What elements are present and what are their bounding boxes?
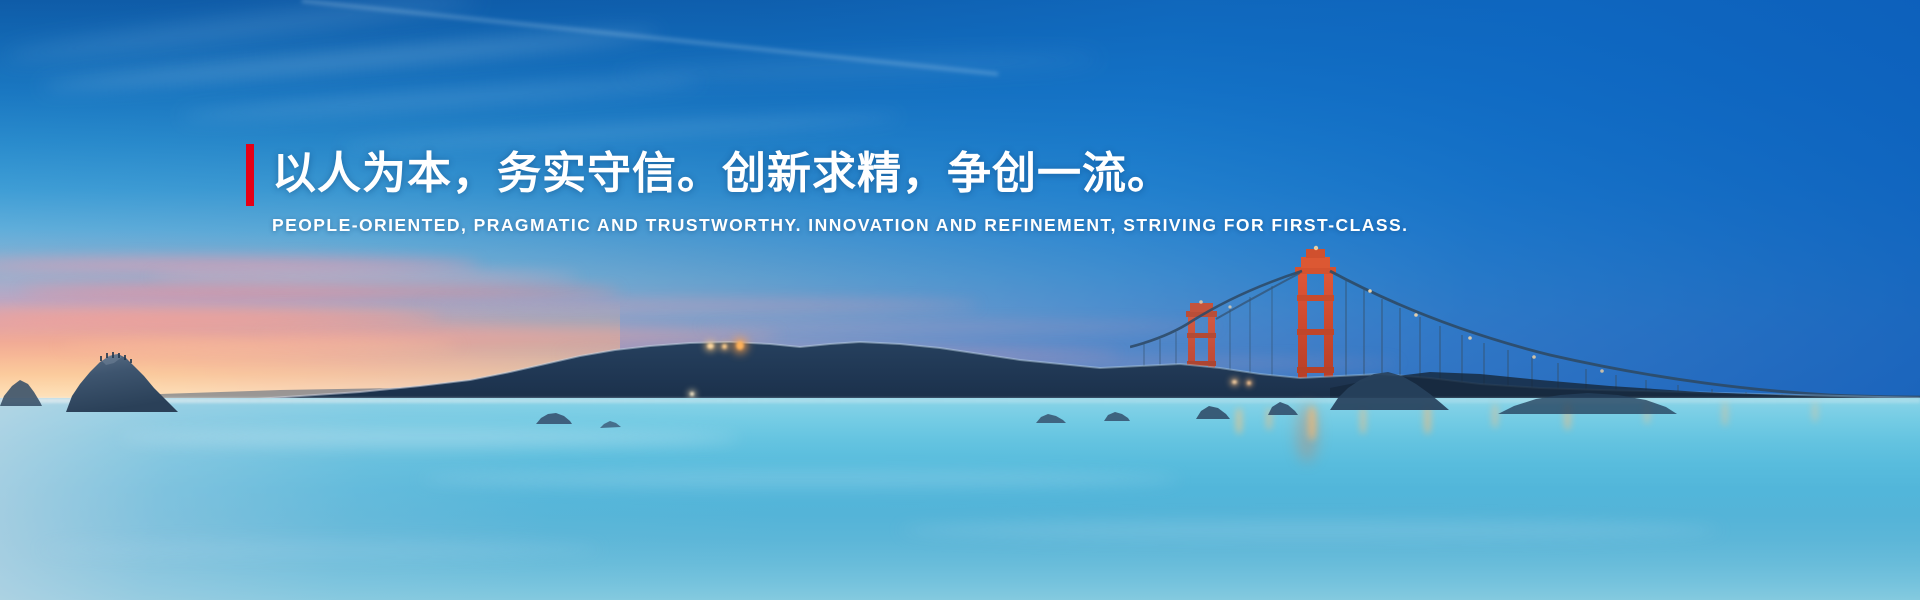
water-sheen: [40, 540, 600, 558]
banner-headline: 以人为本，务实守信。创新求精，争创一流。: [272, 144, 1172, 206]
water-rock: [600, 420, 622, 429]
water-rock: [1036, 412, 1066, 424]
accent-bar: [246, 144, 254, 206]
water-pale-overlay: [0, 398, 780, 600]
water-rock: [536, 411, 572, 425]
light-reflection: [1722, 402, 1728, 426]
water-sheen: [420, 470, 1180, 488]
hero-banner: 以人为本，务实守信。创新求精，争创一流。 PEOPLE-ORIENTED, PR…: [0, 0, 1920, 600]
water-rock: [1104, 410, 1130, 422]
cloud-streak: [150, 272, 580, 281]
ridge-light: [1247, 381, 1251, 385]
ridge-light: [722, 344, 727, 349]
ridge-light: [1232, 380, 1237, 384]
foreground-rock: [62, 352, 180, 414]
cloud-streak: [20, 286, 620, 297]
water-rock: [1268, 400, 1298, 416]
ridge-light: [707, 343, 714, 349]
light-reflection: [1812, 402, 1818, 422]
light-reflection: [1308, 406, 1316, 440]
shore-rock: [1330, 366, 1450, 412]
headline-row: 以人为本，务实守信。创新求精，争创一流。: [246, 144, 1546, 206]
water-sheen: [120, 430, 740, 446]
shore-rock: [1498, 386, 1678, 416]
light-reflection: [1236, 408, 1242, 434]
banner-subtitle: PEOPLE-ORIENTED, PRAGMATIC AND TRUSTWORT…: [272, 215, 1546, 236]
foreground-rock: [0, 372, 42, 408]
water-rock: [1196, 404, 1230, 420]
ridge-light: [736, 341, 744, 350]
ridge-light: [690, 392, 694, 396]
water-sheen: [900, 520, 1720, 540]
banner-text-block: 以人为本，务实守信。创新求精，争创一流。 PEOPLE-ORIENTED, PR…: [246, 144, 1546, 236]
